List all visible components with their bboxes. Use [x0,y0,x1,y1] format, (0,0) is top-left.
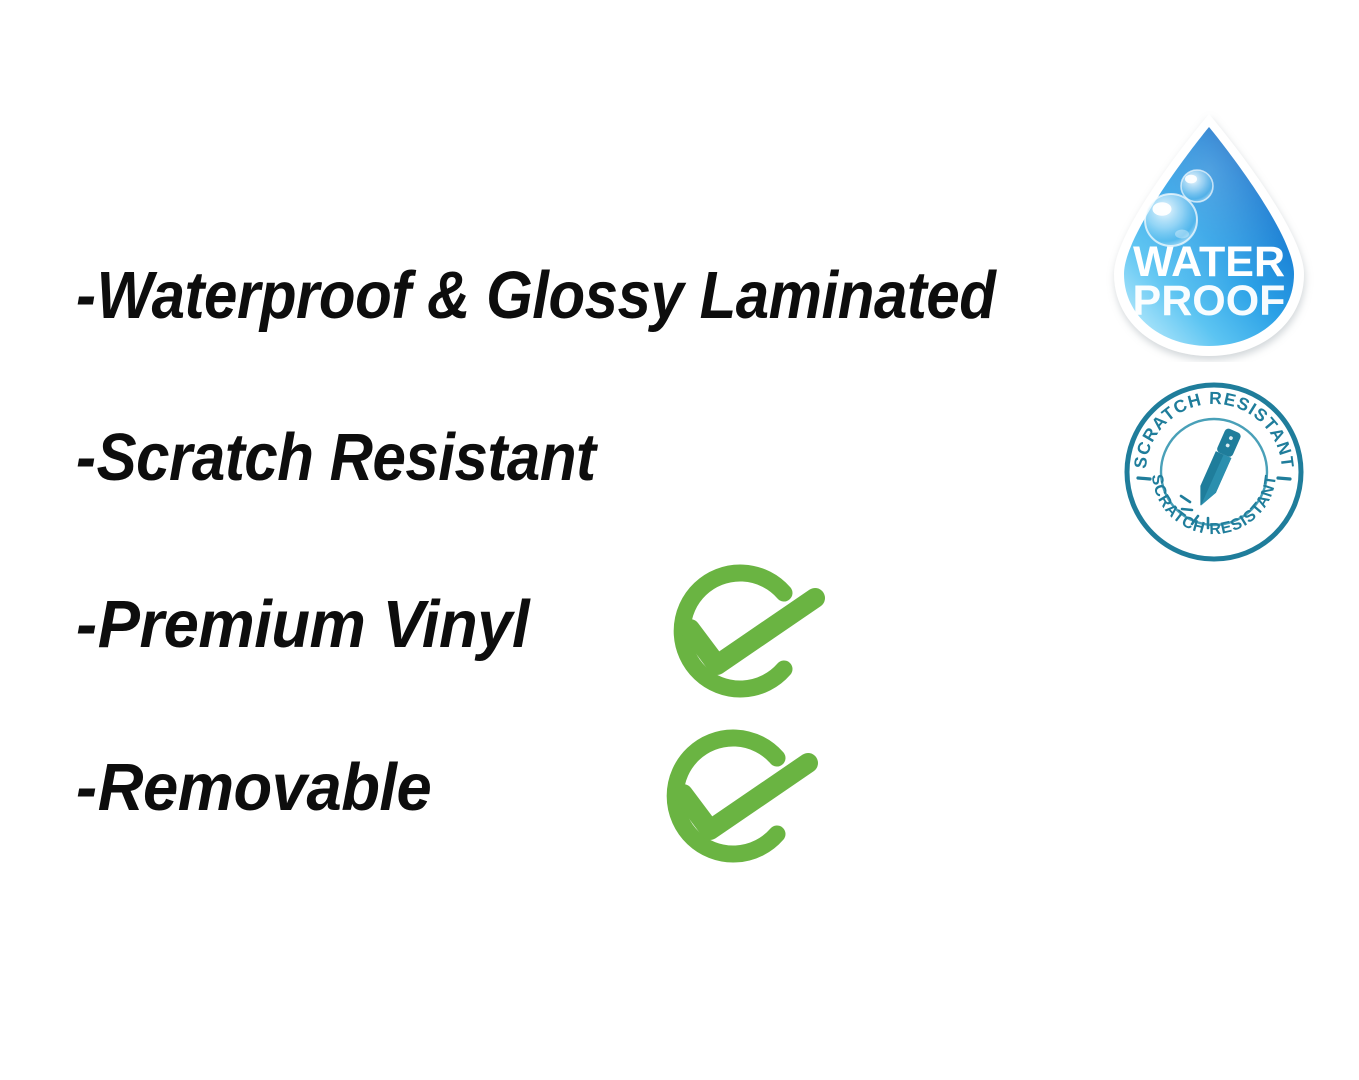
knife-icon [1193,427,1242,509]
green-check-premium-vinyl [637,557,847,712]
feature-label: Waterproof & Glossy Laminated [97,258,996,333]
check-tick [690,598,815,665]
feature-label: Scratch Resistant [97,420,596,495]
feature-line-premium-vinyl: -Premium Vinyl [76,591,529,658]
waterproof-drop-badge: WATER PROOF [1098,108,1320,362]
scratch-resistant-badge: SCRATCH RESISTANT SCRATCH RESISTANT [1124,382,1304,562]
water-bubble-small [1181,170,1213,202]
feature-label: Premium Vinyl [98,587,529,662]
feature-label: Removable [98,750,432,825]
check-tick [683,763,808,830]
feature-line-scratch-resistant: -Scratch Resistant [76,424,596,491]
feature-line-waterproof: -Waterproof & Glossy Laminated [76,262,995,329]
waterproof-line2: PROOF [1133,277,1286,325]
green-check-removable [630,722,840,877]
feature-dash: - [76,420,97,495]
feature-dash: - [76,587,98,662]
feature-list-graphic: -Waterproof & Glossy Laminated -Scratch … [0,0,1359,1080]
feature-dash: - [76,258,97,333]
feature-line-removable: -Removable [76,754,431,821]
feature-dash: - [76,750,98,825]
